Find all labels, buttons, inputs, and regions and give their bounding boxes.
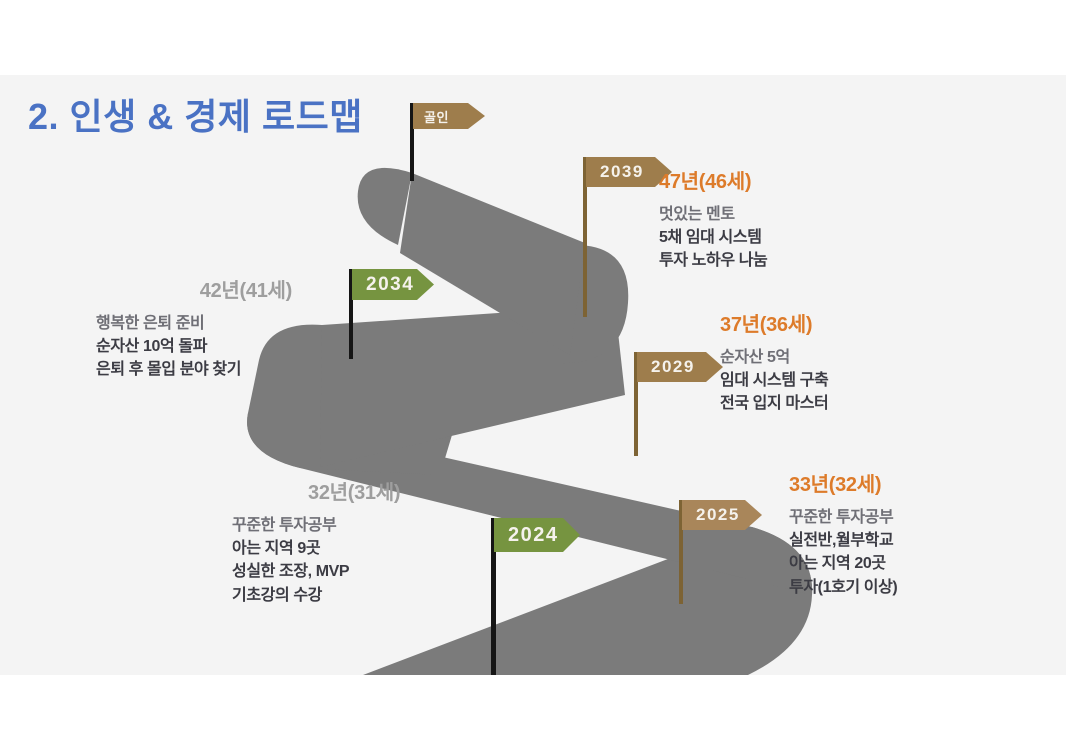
flag-2025-label: 2025 [682, 500, 762, 530]
milestone-2034-line-3: 은퇴 후 몰입 분야 찾기 [96, 358, 298, 381]
milestone-2034: 42년(41세) 행복한 은퇴 준비 순자산 10억 돌파 은퇴 후 몰입 분야… [18, 279, 298, 382]
milestone-2025-line-4: 투자(1호기 이상) [789, 576, 897, 599]
milestone-2024-body: 꾸준한 투자공부 아는 지역 9곳 성실한 조장, MVP 기초강의 수강 [232, 514, 532, 607]
milestone-2024-line-1: 꾸준한 투자공부 [232, 514, 532, 537]
milestone-2029-line-3: 전국 입지 마스터 [720, 392, 828, 415]
milestone-2025-line-1: 꾸준한 투자공부 [789, 506, 897, 529]
milestone-2025-body: 꾸준한 투자공부 실전반,월부학교 아는 지역 20곳 투자(1호기 이상) [789, 506, 897, 599]
milestone-2039-line-3: 투자 노하우 나눔 [659, 249, 767, 272]
flag-2034-label: 2034 [352, 269, 434, 300]
milestone-2039: 47년(46세) 멋있는 멘토 5채 임대 시스템 투자 노하우 나눔 [659, 170, 767, 273]
flag-2029-label: 2029 [637, 352, 723, 382]
milestone-2024-line-3: 성실한 조장, MVP [232, 560, 532, 583]
milestone-2024-heading: 32년(31세) [232, 481, 532, 506]
milestone-2025: 33년(32세) 꾸준한 투자공부 실전반,월부학교 아는 지역 20곳 투자(… [789, 473, 897, 599]
milestone-2025-heading: 33년(32세) [789, 473, 897, 498]
milestone-2039-body: 멋있는 멘토 5채 임대 시스템 투자 노하우 나눔 [659, 203, 767, 273]
milestone-2024-line-2: 아는 지역 9곳 [232, 537, 532, 560]
milestone-2039-heading: 47년(46세) [659, 170, 767, 195]
milestone-2025-line-3: 아는 지역 20곳 [789, 552, 897, 575]
milestone-2029-body: 순자산 5억 임대 시스템 구축 전국 입지 마스터 [720, 346, 828, 416]
slide-canvas: 골인 2039 47년(46세) 멋있는 멘토 5채 임대 시스템 투자 노하우… [0, 75, 1066, 675]
milestone-2034-line-1: 행복한 은퇴 준비 [96, 312, 298, 335]
page-title: 2. 인생 & 경제 로드맵 [28, 99, 363, 135]
milestone-2029: 37년(36세) 순자산 5억 임대 시스템 구축 전국 입지 마스터 [720, 313, 828, 416]
milestone-2029-line-2: 임대 시스템 구축 [720, 369, 828, 392]
milestone-2024: 32년(31세) 꾸준한 투자공부 아는 지역 9곳 성실한 조장, MVP 기… [232, 481, 532, 607]
milestone-2025-line-2: 실전반,월부학교 [789, 529, 897, 552]
milestone-2034-heading: 42년(41세) [18, 279, 298, 304]
milestone-2029-heading: 37년(36세) [720, 313, 828, 338]
milestone-2034-line-2: 순자산 10억 돌파 [96, 335, 298, 358]
milestone-2039-line-1: 멋있는 멘토 [659, 203, 767, 226]
milestone-2039-line-2: 5채 임대 시스템 [659, 226, 767, 249]
milestone-2034-body: 행복한 은퇴 준비 순자산 10억 돌파 은퇴 후 몰입 분야 찾기 [18, 312, 298, 382]
milestone-2029-line-1: 순자산 5억 [720, 346, 828, 369]
milestone-2024-line-4: 기초강의 수강 [232, 584, 532, 607]
